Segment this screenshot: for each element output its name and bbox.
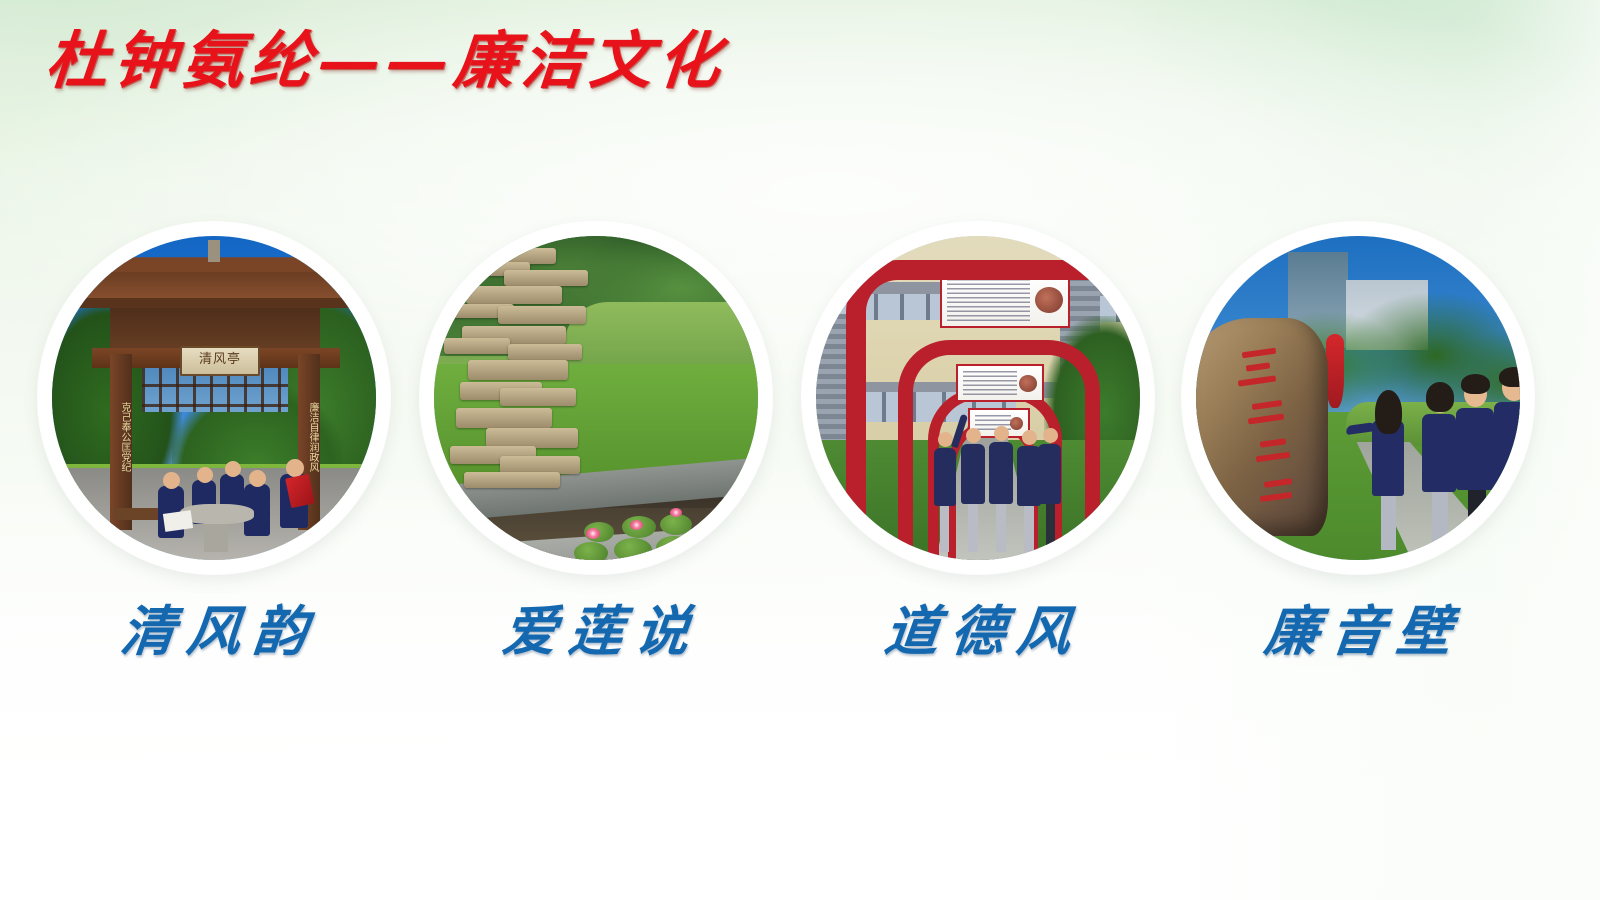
person [1422, 414, 1456, 492]
carved-stroke [1260, 438, 1287, 448]
gallery-item-4[interactable] [1182, 222, 1534, 574]
person [989, 442, 1013, 504]
person-legs [1432, 488, 1448, 550]
rockery-stack-icon [460, 248, 588, 488]
lotus-pond-photo[interactable] [434, 236, 758, 560]
pavilion-scene: 清风亭 克己奉公匡党纪 廉洁自律润政风 [52, 236, 376, 560]
person-head [966, 428, 981, 443]
person [961, 444, 985, 504]
pavilion-plaque: 清风亭 [180, 346, 260, 376]
gallery-item-3[interactable] [802, 222, 1154, 574]
person-legs [996, 502, 1006, 552]
gallery-caption-2: 爱莲说 [415, 586, 776, 676]
carved-stroke [1252, 400, 1283, 410]
carved-stroke [1256, 452, 1291, 463]
carved-stroke [1260, 492, 1293, 502]
person-head [994, 426, 1009, 441]
water-lily-flower [716, 524, 729, 534]
carved-stroke [1264, 478, 1293, 488]
water-lily-flower [670, 508, 682, 517]
gallery-item-2[interactable] [420, 222, 772, 574]
lily-pad [614, 538, 652, 560]
person-hair [1426, 382, 1454, 412]
person-head [1043, 428, 1058, 443]
lotus-pond-scene [434, 236, 758, 560]
person-head [225, 461, 241, 477]
person [934, 448, 956, 506]
water-lily-flower [586, 528, 600, 539]
inscribed-stone [1196, 318, 1328, 536]
water-lily-flower [630, 520, 643, 530]
red-arch-scene [816, 236, 1140, 560]
red-arch-corridor-photo[interactable] [816, 236, 1140, 560]
person-legs [968, 502, 978, 552]
person-legs [940, 504, 949, 552]
gallery-caption-3: 道德风 [797, 586, 1158, 676]
page-title: 杜钟氨纶——廉洁文化 [42, 18, 950, 104]
pavilion-photo[interactable]: 清风亭 克己奉公匡党纪 廉洁自律润政风 [52, 236, 376, 560]
person-head [163, 472, 180, 489]
lily-pad [696, 540, 736, 560]
person-legs [1506, 484, 1520, 552]
carved-stroke [1238, 375, 1276, 386]
paper-sheet [163, 510, 193, 532]
person-legs [1046, 502, 1055, 550]
roof-eave [66, 298, 366, 308]
slide-canvas: 杜钟氨纶——廉洁文化 [0, 0, 1600, 900]
carved-stroke [1242, 348, 1277, 359]
person-head [197, 467, 213, 483]
couplet-left: 克己奉公匡党纪 [112, 362, 130, 512]
carved-stroke [1248, 414, 1284, 425]
inscribed-stone-photo[interactable] [1196, 236, 1520, 560]
person-head [1022, 430, 1037, 445]
photo-gallery: 清风亭 克己奉公匡党纪 廉洁自律润政风 [0, 222, 1600, 582]
person-legs [1468, 486, 1486, 552]
person [1494, 402, 1520, 488]
gallery-item-1[interactable]: 清风亭 克己奉公匡党纪 廉洁自律润政风 [38, 222, 390, 574]
inscribed-stone-scene [1196, 236, 1520, 560]
red-parasol [1326, 334, 1344, 408]
person-legs [1381, 492, 1396, 550]
person-hair [1375, 390, 1402, 434]
carved-stroke [1246, 362, 1271, 371]
person [1038, 444, 1061, 504]
roof-finial [208, 240, 220, 262]
lily-pad [574, 542, 608, 560]
arch-1 [846, 260, 1140, 560]
lily-pad [660, 514, 692, 535]
person-head [249, 470, 266, 487]
gallery-caption-1: 清风韵 [33, 586, 394, 676]
caption-row: 清风韵 爱莲说 道德风 廉音壁 [0, 586, 1600, 682]
person-legs [1024, 504, 1034, 552]
person-hair [1461, 374, 1490, 394]
lily-pad [656, 536, 692, 559]
person-hair [1499, 367, 1520, 387]
person [1456, 408, 1494, 490]
gallery-caption-4: 廉音壁 [1177, 586, 1538, 676]
